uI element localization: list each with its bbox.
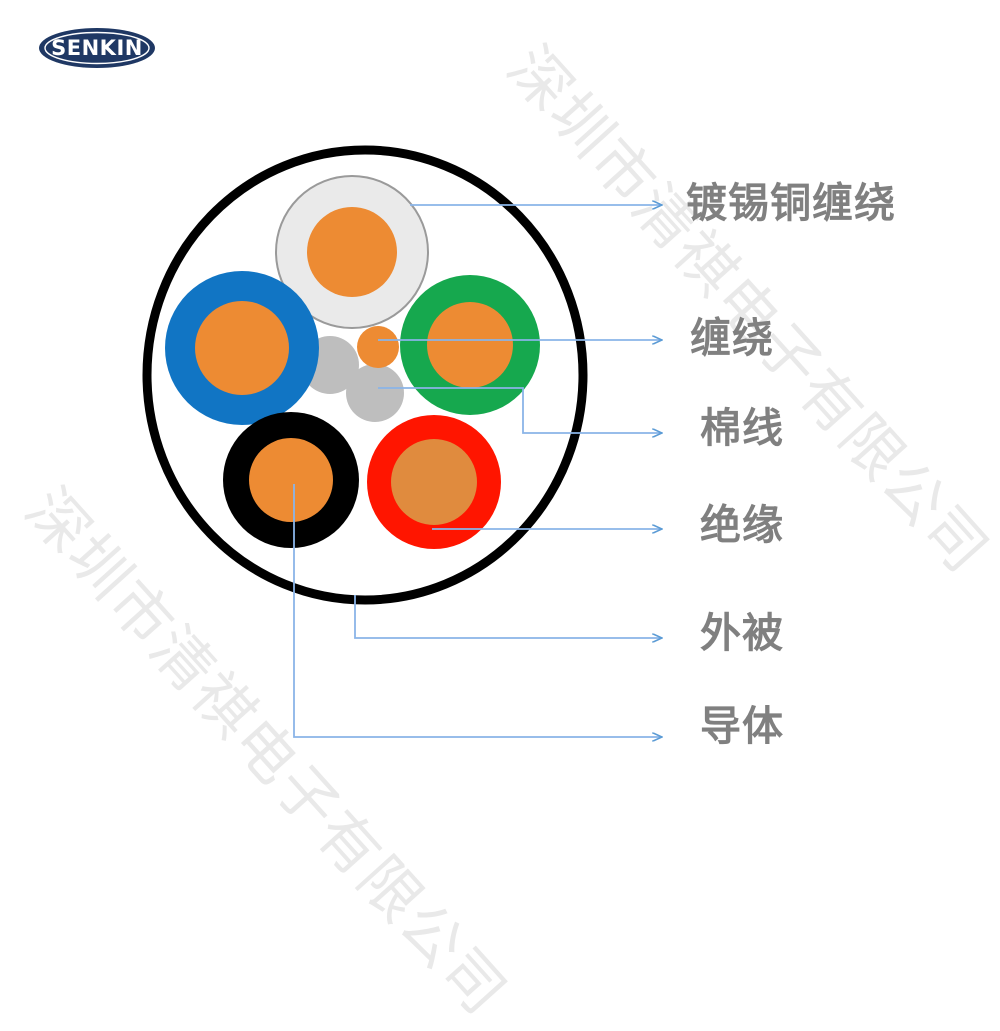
blue-conductor-core	[195, 301, 289, 395]
callout-label-tinned-copper-winding: 镀锡铜缠绕	[686, 183, 896, 224]
cable-cross-section-diagram	[0, 0, 1000, 850]
green-conductor-core	[427, 302, 513, 388]
cotton-filler-lower	[346, 364, 404, 422]
callout-label-conductor: 导体	[700, 706, 784, 747]
callout-label-cotton-thread: 棉线	[700, 408, 784, 449]
black-conductor-core	[249, 438, 333, 522]
shielded-conductor-core	[307, 207, 397, 297]
callout-label-outer-sheath: 外被	[700, 613, 784, 654]
callout-label-winding: 缠绕	[690, 318, 774, 359]
red-conductor-core	[391, 439, 477, 525]
center-winding-strand	[357, 326, 399, 368]
callout-label-insulation: 绝缘	[700, 505, 784, 546]
